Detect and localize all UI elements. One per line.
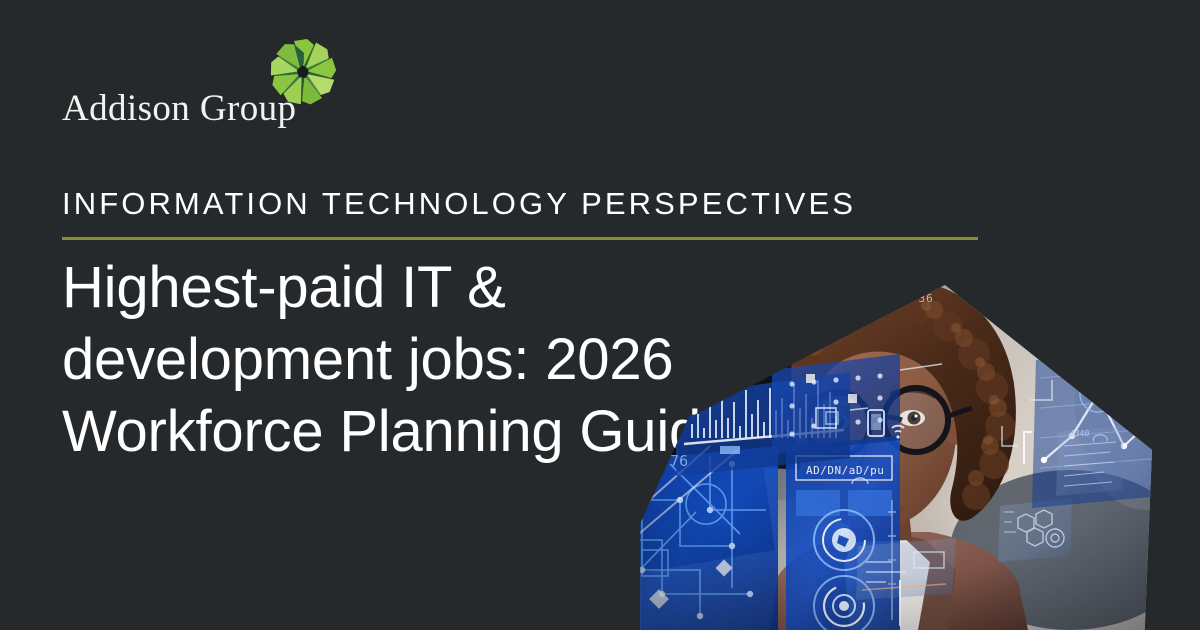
brand-logo[interactable]: Addison Group — [62, 36, 352, 132]
page-title: Highest-paid IT & development jobs: 2026… — [62, 252, 762, 468]
brand-wordmark: Addison Group — [62, 90, 296, 127]
svg-text:■ ■: ■ ■ — [1116, 306, 1129, 314]
eyebrow-label: INFORMATION TECHNOLOGY PERSPECTIVES — [62, 186, 856, 222]
svg-text:ww 30 00: ww 30 00 — [1050, 333, 1079, 340]
svg-text:CDN: CDN — [1050, 322, 1063, 330]
eyebrow-divider — [62, 237, 978, 240]
social-share-card: Addison Group INFORMATION TECHNOLOGY PER… — [0, 0, 1200, 630]
